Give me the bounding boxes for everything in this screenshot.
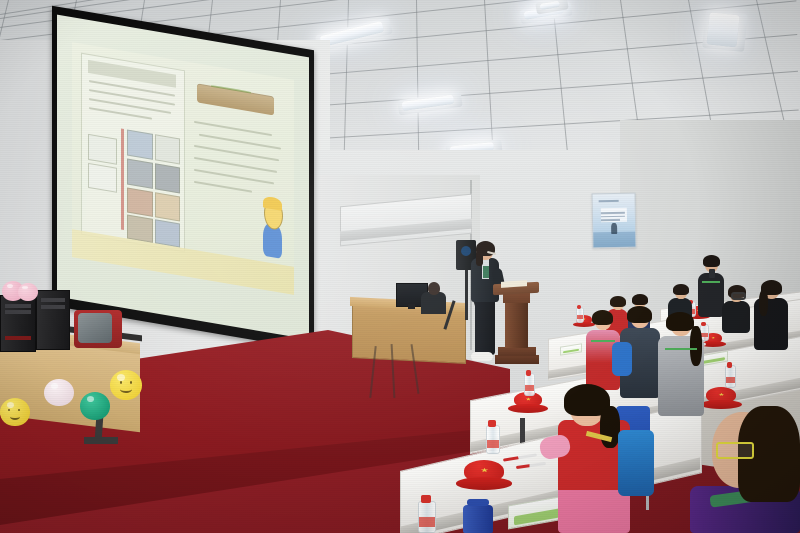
- tower-drive-slot: [41, 298, 65, 302]
- balloon-green: [80, 392, 110, 420]
- lanyard: [591, 340, 615, 342]
- child-hair: [592, 310, 613, 325]
- balloon-highlight: [87, 396, 95, 402]
- slide-flow-box: [88, 163, 117, 193]
- eyeglasses: [716, 442, 754, 459]
- smiley-mouth: [10, 413, 21, 420]
- wall-poster: [592, 193, 637, 249]
- water-bottle: [725, 362, 734, 388]
- slide-flow-connector: [121, 129, 124, 230]
- presenter-legs: [475, 299, 495, 355]
- tower-badge: [5, 336, 31, 340]
- smiley-eye: [8, 409, 10, 412]
- bottle-label: [726, 377, 735, 383]
- photo-scene: [0, 0, 800, 533]
- adult-hair: [673, 284, 689, 295]
- smiley-face: [110, 370, 142, 400]
- water-bottle: [576, 305, 582, 323]
- smiley-eye: [18, 409, 20, 412]
- pa-speaker-cone: [461, 246, 471, 256]
- bottle-label: [525, 385, 534, 391]
- slide-right-panel: [190, 75, 288, 263]
- child-hair: [666, 312, 694, 331]
- child-hair: [627, 306, 652, 323]
- adult-seated: [754, 280, 788, 350]
- fluorescent-tube: [539, 1, 560, 10]
- fluorescent-tube-fixture: [702, 10, 748, 52]
- adult-seated: [722, 285, 750, 333]
- fluorescent-tube: [707, 12, 740, 47]
- adult-hair: [703, 255, 720, 267]
- lanyard: [702, 281, 720, 283]
- smartphone: [709, 269, 715, 278]
- balloon-yellow-smiley: [110, 370, 142, 400]
- child-foreground-glasses: [690, 408, 800, 533]
- adult-body: [722, 301, 750, 333]
- bottle-cap: [488, 420, 495, 427]
- red-cap-with-yellow-star: [456, 460, 512, 490]
- slide-flow-image: [127, 159, 153, 189]
- crt-monitor-screen: [78, 313, 112, 343]
- computer-operator-body: [421, 292, 446, 314]
- eyeglasses: [731, 292, 746, 300]
- smiley-mouth: [120, 386, 132, 393]
- child-hair: [632, 294, 648, 305]
- slide-mascot-icon: [262, 197, 283, 259]
- red-cap-with-yellow-star: [700, 387, 742, 409]
- slide-banner-title: [197, 84, 273, 116]
- bottle-cap: [727, 362, 732, 368]
- bottle-cap: [526, 370, 531, 376]
- child-ponytail: [690, 326, 702, 366]
- bottle-cap: [577, 305, 581, 309]
- balloon-pink-cluster: [18, 283, 38, 301]
- smiley-eye: [130, 381, 132, 384]
- speaker-tripod-pole: [465, 268, 468, 320]
- adult-hair-long: [759, 290, 768, 316]
- pamphlet-graphic: [563, 348, 580, 353]
- podium-base: [495, 355, 539, 364]
- bottle-label: [487, 440, 499, 448]
- poster-figure: [612, 223, 617, 235]
- tower-drive-slot: [5, 310, 31, 314]
- bottle-label: [577, 315, 583, 319]
- slide-flow-image: [127, 130, 153, 160]
- child-seated: [620, 306, 660, 398]
- bench-foot: [84, 437, 118, 444]
- backpack: [612, 342, 632, 376]
- balloon-highlight: [22, 286, 27, 290]
- computer-tower: [0, 295, 36, 352]
- slide-text-line: [194, 121, 272, 136]
- bottle-body: [418, 501, 436, 533]
- water-bottle: [524, 370, 533, 396]
- adult-standing-photographer: [698, 255, 724, 317]
- slide-flow-box: [88, 134, 117, 164]
- presentation-slide: [72, 43, 294, 295]
- bottle-body: [576, 307, 584, 323]
- bottle-label: [419, 517, 435, 526]
- bottle-body: [524, 373, 535, 396]
- slide-left-panel: [81, 53, 185, 253]
- slide-flow-image: [155, 163, 179, 193]
- banner-leaf-decoration: [211, 85, 251, 93]
- poster-title-line: [599, 200, 619, 202]
- balloon-highlight: [51, 383, 59, 389]
- bottle-body: [725, 365, 736, 388]
- balloon-highlight: [7, 284, 13, 288]
- water-bottle: [418, 495, 434, 533]
- podium-column: [505, 302, 528, 348]
- slide-flow-image: [155, 135, 179, 165]
- monitor-stand: [408, 304, 415, 309]
- lanyard: [665, 348, 697, 350]
- presenter-hair-side: [476, 250, 483, 266]
- tower-drive-slot: [5, 304, 31, 308]
- adult-body: [698, 273, 724, 317]
- smiley-face: [0, 398, 30, 426]
- cap-brim: [456, 477, 512, 490]
- bottle-cap: [421, 495, 431, 503]
- tower-drive-slot: [41, 305, 65, 309]
- podium-neck: [503, 293, 530, 303]
- thermos-lid: [467, 499, 490, 506]
- child-seated: [658, 312, 704, 416]
- computer-tower: [36, 290, 70, 350]
- computer-operator-head: [428, 282, 440, 295]
- water-bottle: [486, 420, 498, 454]
- projection-screen: [52, 6, 314, 351]
- balloon-white: [44, 379, 74, 406]
- projection-screen-surface: [57, 15, 309, 340]
- slide-text-line: [194, 181, 253, 193]
- smiley-eye: [120, 381, 122, 384]
- poster-water: [593, 232, 635, 248]
- backpack: [618, 430, 654, 496]
- ceiling-grid-line: [0, 0, 792, 19]
- child-foreground: [540, 386, 630, 533]
- slide-flow-image: [127, 187, 153, 217]
- balloon-yellow-smiley-2: [0, 398, 30, 426]
- blue-thermos: [463, 505, 493, 533]
- slide-flow-image: [155, 192, 179, 222]
- poster-text-line: [601, 219, 619, 221]
- bottle-body: [486, 425, 500, 454]
- presenter-scarf: [483, 266, 489, 278]
- podium-base-upper: [498, 347, 536, 356]
- presenter-shoe: [471, 352, 493, 361]
